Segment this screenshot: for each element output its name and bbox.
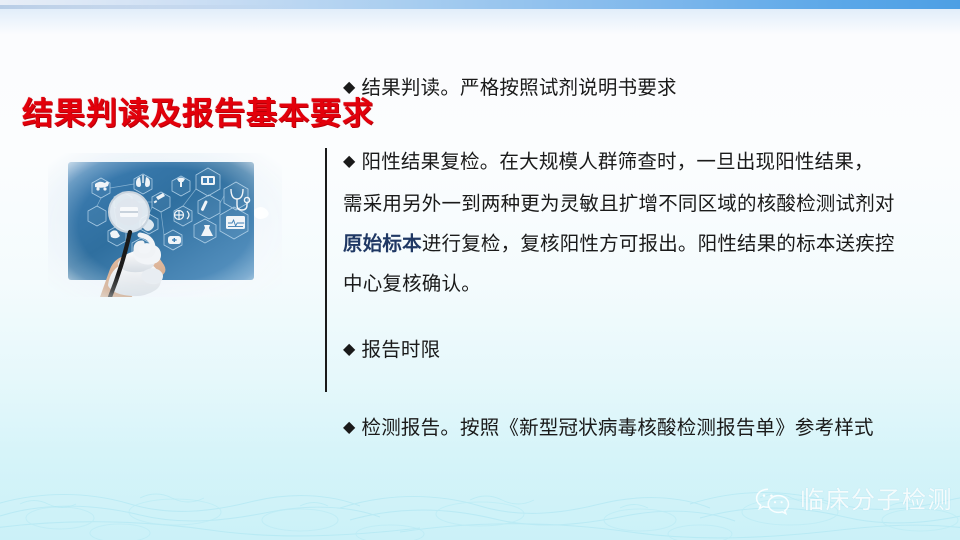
- bullet-line-1: 阳性结果复检。在大规模人群筛查时，一旦出现阳性结果，: [362, 151, 874, 173]
- bullet-report-deadline: ◆报告时限: [343, 330, 943, 372]
- medical-illustration: [48, 153, 282, 297]
- top-haze: [0, 9, 960, 35]
- watermark-text: 临床分子检测: [800, 486, 953, 516]
- page-title: 结果判读及报告基本要求: [22, 96, 374, 132]
- bullet-text: 结果判读。严格按照试剂说明书要求: [362, 77, 677, 99]
- bullet-test-report: ◆检测报告。按照《新型冠状病毒核酸检测报告单》参考样式: [343, 408, 947, 450]
- medical-stethoscope-icon: [48, 153, 282, 297]
- bullet-line-4: 中心复核确认。: [343, 264, 945, 304]
- diamond-bullet-icon: ◆: [343, 153, 356, 170]
- bullet-line-3-rest: 进行复检，复核阳性方可报出。阳性结果的标本送疾控: [422, 233, 895, 255]
- wechat-icon: [755, 486, 791, 516]
- bullet-line-2: 需采用另外一到两种更为灵敏且扩增不同区域的核酸检测试剂对: [343, 184, 945, 224]
- bullet-result-interpretation: ◆结果判读。严格按照试剂说明书要求: [343, 68, 943, 110]
- slide: 结果判读及报告基本要求: [0, 0, 960, 540]
- bullet-text: 检测报告。按照《新型冠状病毒核酸检测报告单》参考样式: [362, 417, 874, 439]
- vertical-divider: [325, 148, 327, 392]
- highlight-original-specimen: 原始标本: [343, 233, 422, 255]
- bullet-line-3: 原始标本进行复检，复核阳性方可报出。阳性结果的标本送疾控: [343, 224, 945, 264]
- diamond-bullet-icon: ◆: [343, 341, 356, 358]
- watermark: 临床分子检测: [755, 486, 953, 516]
- diamond-bullet-icon: ◆: [343, 419, 356, 436]
- bullet-text: 报告时限: [362, 339, 441, 361]
- bullet-positive-retest: ◆阳性结果复检。在大规模人群筛查时，一旦出现阳性结果， 需采用另外一到两种更为灵…: [343, 142, 945, 304]
- top-accent-band: [0, 0, 960, 9]
- diamond-bullet-icon: ◆: [343, 79, 356, 96]
